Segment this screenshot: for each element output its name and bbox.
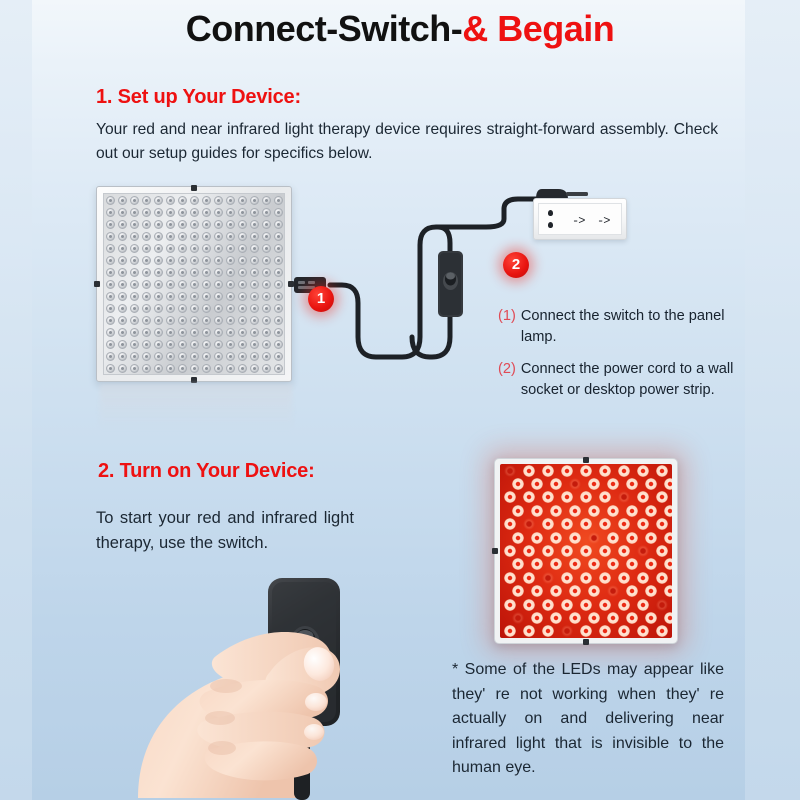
led-unlit <box>250 328 259 337</box>
led-unlit <box>154 292 163 301</box>
led-unlit <box>106 196 115 205</box>
led-lit <box>550 612 562 624</box>
led-unlit <box>166 340 175 349</box>
led-unlit <box>118 244 127 253</box>
section-1-body: Your red and near infrared light therapy… <box>96 118 718 166</box>
led-unlit <box>262 340 271 349</box>
led-unlit <box>178 220 187 229</box>
led-lit <box>504 491 516 503</box>
led-unlit <box>190 208 199 217</box>
led-unlit <box>130 304 139 313</box>
led-unlit <box>154 268 163 277</box>
led-unlit <box>202 340 211 349</box>
led-unlit <box>190 280 199 289</box>
led-lit <box>637 599 649 611</box>
led-unlit <box>118 220 127 229</box>
led-lit <box>523 518 535 530</box>
led-unlit <box>202 220 211 229</box>
led-unlit <box>166 280 175 289</box>
led-lit <box>656 518 668 530</box>
led-unlit <box>142 352 151 361</box>
led-lit <box>645 532 657 544</box>
led-lit <box>664 585 672 597</box>
led-lit <box>580 518 592 530</box>
led-lit <box>588 532 600 544</box>
led-unlit <box>226 280 235 289</box>
led-unlit <box>202 364 211 373</box>
led-unlit <box>154 232 163 241</box>
led-unlit <box>118 364 127 373</box>
led-lit <box>580 545 592 557</box>
led-lit <box>656 465 668 477</box>
led-unlit <box>130 256 139 265</box>
led-lit <box>656 491 668 503</box>
led-unlit <box>142 280 151 289</box>
led-lit <box>656 572 668 584</box>
led-lit <box>531 558 543 570</box>
led-unlit <box>238 208 247 217</box>
led-unlit <box>142 364 151 373</box>
led-unlit <box>238 352 247 361</box>
led-unlit <box>130 208 139 217</box>
led-unlit <box>214 244 223 253</box>
led-unlit <box>154 244 163 253</box>
led-lit <box>664 612 672 624</box>
left-edge-band <box>0 0 32 800</box>
led-unlit <box>130 364 139 373</box>
led-lit <box>542 599 554 611</box>
led-unlit <box>238 256 247 265</box>
led-unlit <box>166 352 175 361</box>
led-unlit <box>214 208 223 217</box>
led-unlit <box>178 316 187 325</box>
led-unlit <box>214 292 223 301</box>
instruction-item: (1) Connect the switch to the panel lamp… <box>498 306 748 348</box>
led-unlit <box>250 232 259 241</box>
led-unlit <box>106 244 115 253</box>
led-unlit <box>250 352 259 361</box>
led-unlit <box>166 208 175 217</box>
led-unlit <box>106 280 115 289</box>
led-unlit <box>214 340 223 349</box>
led-lit <box>626 532 638 544</box>
led-lit <box>580 491 592 503</box>
led-lit <box>588 585 600 597</box>
led-unlit <box>130 244 139 253</box>
led-unlit <box>142 304 151 313</box>
panel-mount-dot-left <box>94 281 100 287</box>
led-unlit <box>250 256 259 265</box>
cable-left-run <box>330 227 438 357</box>
led-unlit <box>190 220 199 229</box>
led-unlit <box>142 244 151 253</box>
inline-rocker-switch <box>438 251 463 317</box>
led-unlit <box>214 256 223 265</box>
led-lit <box>512 505 524 517</box>
led-lit <box>561 625 573 637</box>
led-lit <box>626 558 638 570</box>
led-lit <box>569 532 581 544</box>
led-lit <box>523 572 535 584</box>
led-lit <box>569 505 581 517</box>
led-lit <box>569 585 581 597</box>
led-lit <box>626 612 638 624</box>
led-unlit <box>214 232 223 241</box>
led-unlit <box>178 280 187 289</box>
led-lit <box>599 625 611 637</box>
led-lit <box>599 599 611 611</box>
led-unlit <box>178 340 187 349</box>
led-unlit <box>202 280 211 289</box>
led-unlit <box>250 316 259 325</box>
led-lit <box>637 491 649 503</box>
led-lit <box>607 532 619 544</box>
two-pin-round-outlet-icon <box>548 210 553 230</box>
led-unlit <box>250 244 259 253</box>
led-unlit <box>238 292 247 301</box>
led-unlit <box>106 220 115 229</box>
led-unlit <box>130 268 139 277</box>
led-lit <box>542 572 554 584</box>
led-unlit <box>142 196 151 205</box>
led-lit <box>599 572 611 584</box>
led-unlit <box>214 352 223 361</box>
led-unlit <box>106 304 115 313</box>
led-lit <box>626 505 638 517</box>
three-pin-outlet-left-icon: -> <box>572 215 584 227</box>
led-lit <box>523 625 535 637</box>
led-lit <box>512 478 524 490</box>
led-unlit <box>178 292 187 301</box>
led-lit <box>618 572 630 584</box>
led-unlit <box>106 232 115 241</box>
led-unlit <box>238 268 247 277</box>
led-lit <box>618 599 630 611</box>
led-unlit <box>106 208 115 217</box>
led-lit <box>504 518 516 530</box>
led-lit <box>645 612 657 624</box>
led-lit <box>637 625 649 637</box>
led-lit <box>664 505 672 517</box>
led-unlit <box>202 256 211 265</box>
panel-mount-dot-top <box>191 185 197 191</box>
right-edge-band <box>745 0 800 800</box>
led-unlit <box>202 268 211 277</box>
led-unlit <box>118 328 127 337</box>
instruction-text: Connect the power cord to a wall socket … <box>521 359 748 401</box>
led-unlit <box>154 208 163 217</box>
led-unlit <box>118 340 127 349</box>
led-unlit <box>130 340 139 349</box>
led-unlit <box>226 316 235 325</box>
led-unlit <box>190 292 199 301</box>
led-unlit <box>262 292 271 301</box>
led-unlit <box>238 340 247 349</box>
led-unlit <box>214 196 223 205</box>
led-unlit <box>262 364 271 373</box>
led-unlit <box>214 268 223 277</box>
led-unlit <box>262 268 271 277</box>
led-unlit <box>238 232 247 241</box>
led-lit <box>664 478 672 490</box>
led-unlit <box>178 244 187 253</box>
led-unlit <box>106 364 115 373</box>
led-lit <box>588 478 600 490</box>
led-lit <box>588 612 600 624</box>
led-unlit <box>226 256 235 265</box>
led-lit <box>637 465 649 477</box>
led-unlit <box>118 316 127 325</box>
led-unlit <box>178 256 187 265</box>
led-lit <box>645 505 657 517</box>
led-unlit <box>142 220 151 229</box>
led-unlit <box>238 220 247 229</box>
led-unlit <box>250 304 259 313</box>
title-black-text: Connect-Switch- <box>186 8 463 49</box>
led-lit <box>656 625 668 637</box>
led-unlit <box>190 328 199 337</box>
led-lit <box>561 465 573 477</box>
led-lit <box>580 572 592 584</box>
led-unlit <box>190 268 199 277</box>
led-lit <box>504 545 516 557</box>
led-unlit <box>202 232 211 241</box>
led-unlit <box>202 292 211 301</box>
page-title: Connect-Switch-& Begain <box>0 8 800 50</box>
led-lit <box>523 465 535 477</box>
led-unlit <box>142 256 151 265</box>
cable-to-switch-top <box>438 227 450 255</box>
step-badge-2: 2 <box>503 252 529 278</box>
led-unlit <box>106 328 115 337</box>
led-unlit <box>142 232 151 241</box>
led-lit <box>580 599 592 611</box>
led-unlit <box>238 364 247 373</box>
led-lit <box>523 545 535 557</box>
led-unlit <box>178 304 187 313</box>
led-unlit <box>106 316 115 325</box>
led-unlit <box>202 304 211 313</box>
led-unlit <box>118 232 127 241</box>
led-lit <box>550 505 562 517</box>
led-lit <box>561 518 573 530</box>
led-unlit <box>166 292 175 301</box>
led-lit <box>588 505 600 517</box>
led-lit <box>618 465 630 477</box>
led-unlit <box>214 220 223 229</box>
led-unlit <box>226 364 235 373</box>
led-lit <box>542 491 554 503</box>
led-unlit <box>238 196 247 205</box>
led-unlit <box>166 304 175 313</box>
led-unlit <box>238 316 247 325</box>
led-unlit <box>118 268 127 277</box>
led-lit <box>645 558 657 570</box>
red-panel-mount-dot-top <box>583 457 589 463</box>
led-lit <box>599 518 611 530</box>
led-unlit <box>142 292 151 301</box>
three-pin-outlet-right-icon: -> <box>597 215 609 227</box>
led-lit <box>656 599 668 611</box>
led-unlit <box>130 280 139 289</box>
led-unlit <box>202 196 211 205</box>
led-unlit <box>190 196 199 205</box>
led-lit <box>626 585 638 597</box>
led-unlit <box>190 304 199 313</box>
led-lit <box>531 478 543 490</box>
led-unlit <box>262 232 271 241</box>
led-unlit <box>178 364 187 373</box>
led-footnote: * Some of the LEDs may appear like they'… <box>452 658 724 781</box>
led-unlit <box>226 244 235 253</box>
panel-mount-dot-bottom <box>191 377 197 383</box>
led-unlit <box>190 352 199 361</box>
led-lit <box>561 599 573 611</box>
instruction-marker: (1) <box>498 306 516 348</box>
led-unlit <box>262 196 271 205</box>
instruction-text: Connect the switch to the panel lamp. <box>521 306 748 348</box>
led-unlit <box>226 208 235 217</box>
led-unlit <box>226 340 235 349</box>
led-unlit <box>238 304 247 313</box>
led-unlit <box>106 268 115 277</box>
led-unlit <box>238 280 247 289</box>
led-unlit <box>154 280 163 289</box>
led-lit <box>637 518 649 530</box>
led-lit <box>531 585 543 597</box>
led-unlit <box>118 196 127 205</box>
led-lit <box>523 599 535 611</box>
led-unlit <box>154 304 163 313</box>
led-lit <box>504 599 516 611</box>
led-unlit <box>166 268 175 277</box>
led-lit <box>561 491 573 503</box>
led-lit <box>618 625 630 637</box>
led-lit <box>618 545 630 557</box>
led-unlit <box>178 328 187 337</box>
led-unlit <box>178 232 187 241</box>
led-unlit <box>166 220 175 229</box>
led-lit <box>550 478 562 490</box>
led-unlit <box>214 280 223 289</box>
led-unlit <box>154 256 163 265</box>
led-unlit <box>202 244 211 253</box>
led-unlit <box>130 352 139 361</box>
led-unlit <box>202 352 211 361</box>
led-lit <box>626 478 638 490</box>
led-unlit <box>250 196 259 205</box>
led-unlit <box>190 244 199 253</box>
led-unlit <box>250 280 259 289</box>
led-unlit <box>226 220 235 229</box>
led-unlit <box>226 268 235 277</box>
led-unlit <box>118 304 127 313</box>
led-unlit <box>190 340 199 349</box>
led-unlit <box>178 208 187 217</box>
led-unlit <box>142 340 151 349</box>
led-unlit <box>142 268 151 277</box>
cable-right-run <box>476 209 504 227</box>
led-unlit <box>190 256 199 265</box>
led-unlit <box>262 316 271 325</box>
led-unlit <box>142 316 151 325</box>
led-lit <box>531 532 543 544</box>
led-unlit <box>166 244 175 253</box>
led-grid-lit <box>500 464 672 638</box>
led-unlit <box>130 232 139 241</box>
led-lit <box>580 625 592 637</box>
section-1-heading: 1. Set up Your Device: <box>96 86 301 109</box>
led-lit <box>607 478 619 490</box>
led-lit <box>645 478 657 490</box>
led-lit <box>512 532 524 544</box>
red-panel-mount-dot-bottom <box>583 639 589 645</box>
step-badge-1: 1 <box>308 286 334 312</box>
led-unlit <box>262 280 271 289</box>
led-unlit <box>226 352 235 361</box>
led-unlit <box>262 256 271 265</box>
led-lit <box>531 505 543 517</box>
led-lit <box>618 491 630 503</box>
led-unlit <box>190 316 199 325</box>
led-unlit <box>178 196 187 205</box>
led-lit <box>561 572 573 584</box>
led-unlit <box>226 328 235 337</box>
led-unlit <box>142 208 151 217</box>
led-lit <box>542 465 554 477</box>
led-unlit <box>178 352 187 361</box>
led-panel-lit-red <box>494 458 678 644</box>
led-unlit <box>250 268 259 277</box>
led-unlit <box>166 328 175 337</box>
hand-holding-switch-photo <box>120 560 440 800</box>
led-unlit <box>262 304 271 313</box>
led-unlit <box>130 328 139 337</box>
led-lit <box>531 612 543 624</box>
led-unlit <box>214 328 223 337</box>
led-unlit <box>118 352 127 361</box>
led-unlit <box>118 208 127 217</box>
led-unlit <box>154 364 163 373</box>
led-unlit <box>106 340 115 349</box>
led-unlit <box>154 316 163 325</box>
red-panel-mount-dot-left <box>492 548 498 554</box>
led-unlit <box>262 352 271 361</box>
led-unlit <box>154 220 163 229</box>
instruction-list: (1) Connect the switch to the panel lamp… <box>498 306 748 412</box>
section-2-body: To start your red and infrared light the… <box>96 506 354 556</box>
led-unlit <box>130 196 139 205</box>
instruction-item: (2) Connect the power cord to a wall soc… <box>498 359 748 401</box>
led-lit <box>523 491 535 503</box>
led-lit <box>504 572 516 584</box>
led-lit <box>542 625 554 637</box>
infographic-page: Connect-Switch-& Begain 1. Set up Your D… <box>0 0 800 800</box>
led-unlit <box>202 208 211 217</box>
led-unlit <box>202 316 211 325</box>
led-unlit <box>190 364 199 373</box>
led-unlit <box>190 232 199 241</box>
led-unlit <box>214 316 223 325</box>
led-unlit <box>250 220 259 229</box>
led-unlit <box>262 244 271 253</box>
led-lit <box>512 612 524 624</box>
cable-switch-lower-loop <box>430 315 450 357</box>
led-unlit <box>166 196 175 205</box>
led-lit <box>588 558 600 570</box>
led-unlit <box>154 196 163 205</box>
led-lit <box>656 545 668 557</box>
